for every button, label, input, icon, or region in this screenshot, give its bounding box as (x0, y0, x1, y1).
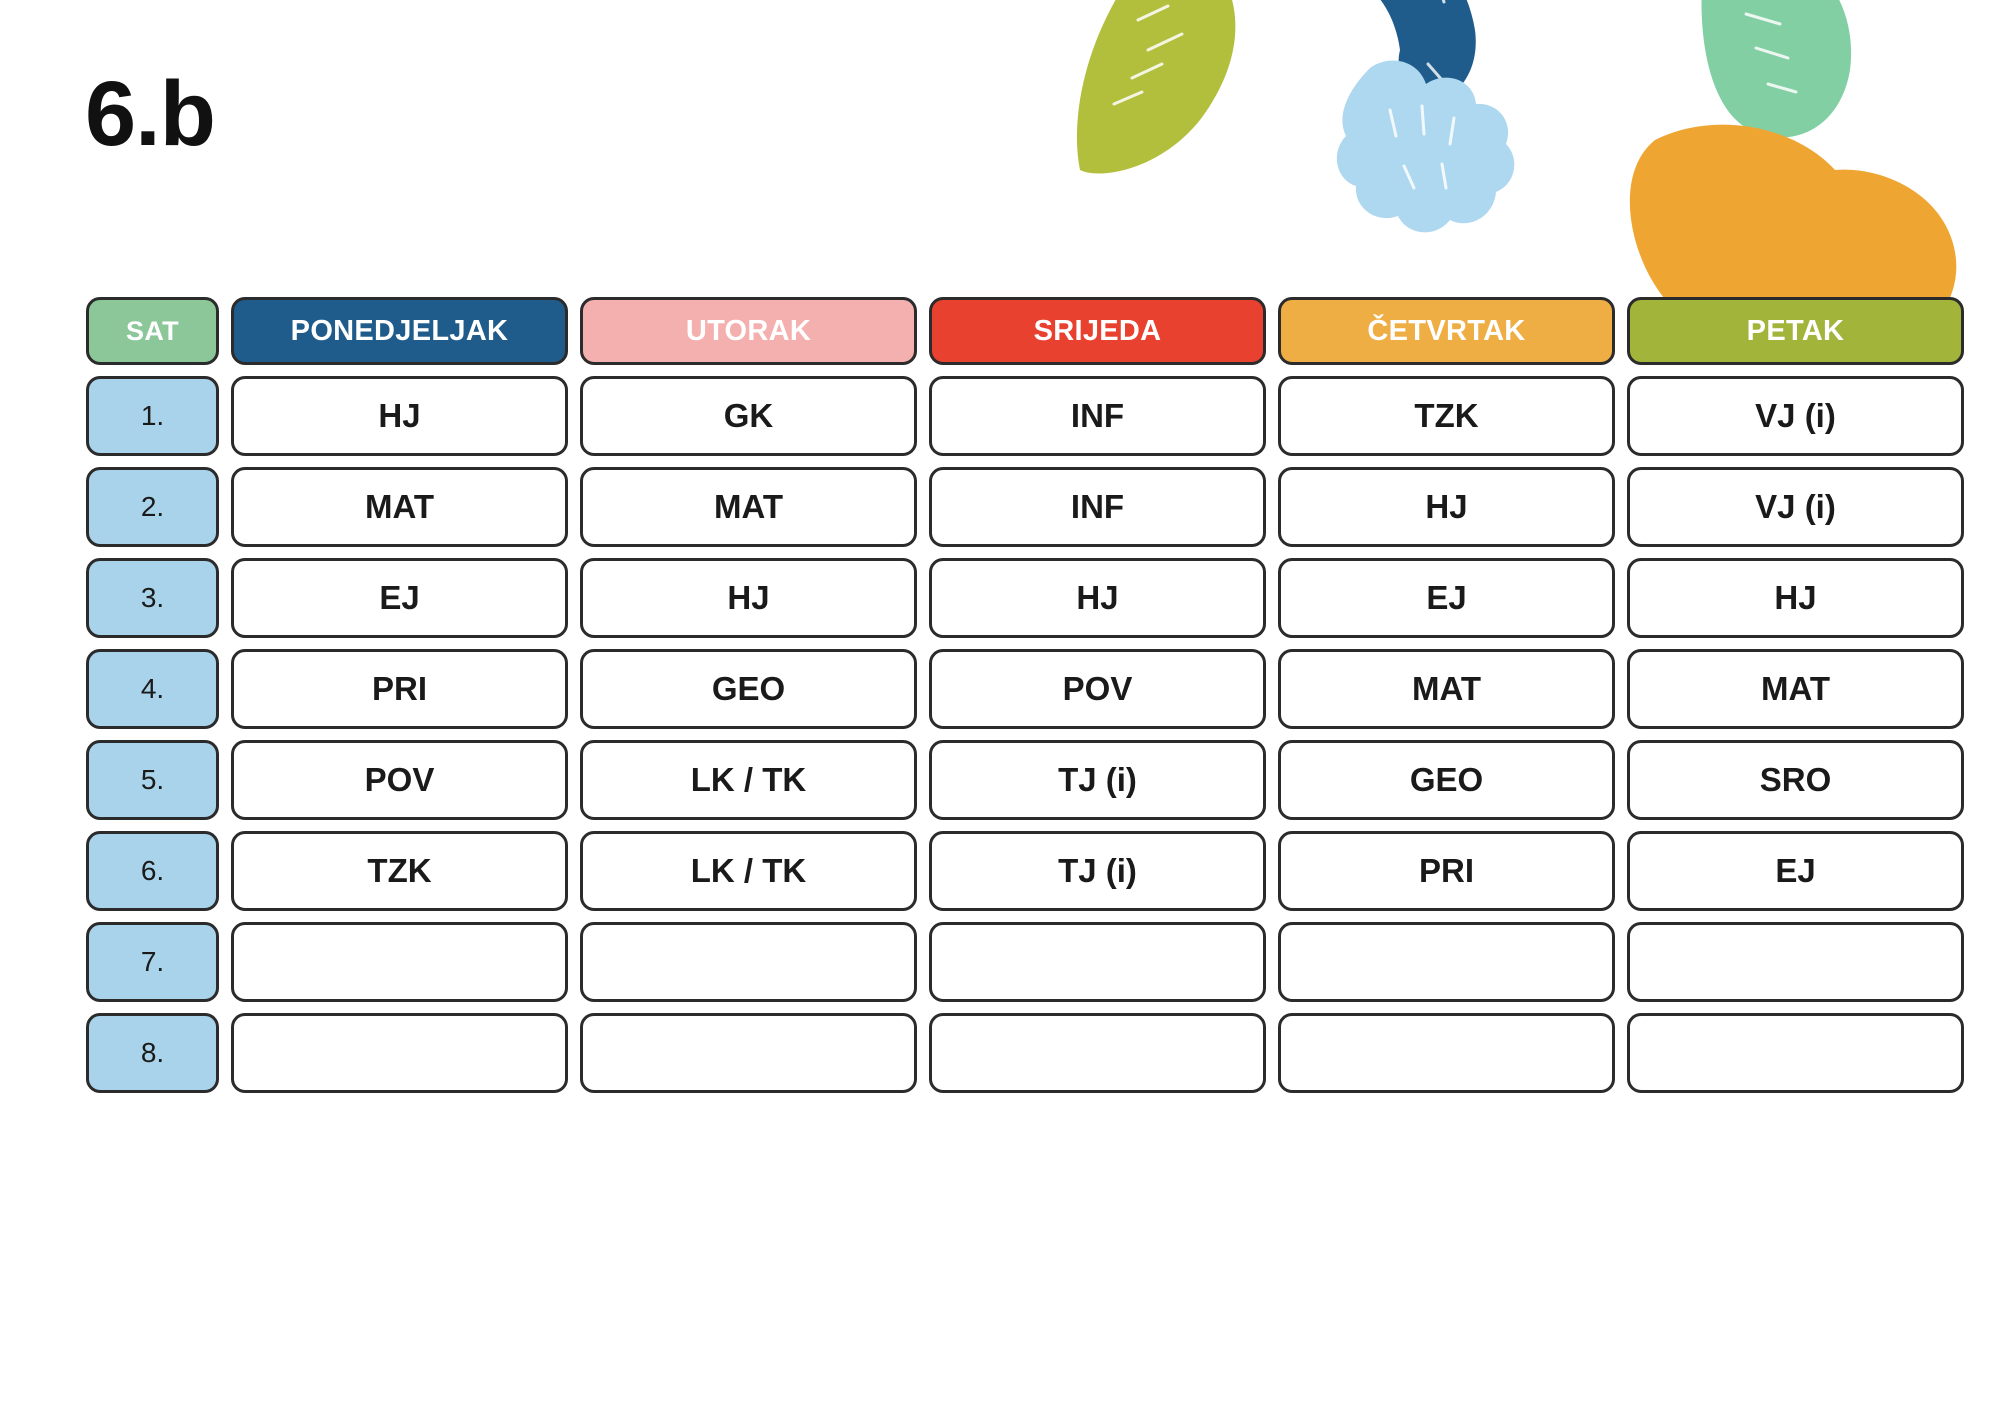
row-number: 6. (86, 831, 219, 911)
row-number: 5. (86, 740, 219, 820)
header-day-monday: PONEDJELJAK (231, 297, 568, 365)
row-number: 4. (86, 649, 219, 729)
subject-cell[interactable] (929, 922, 1266, 1002)
timetable: SAT PONEDJELJAK UTORAK SRIJEDA ČETVRTAK … (86, 297, 1964, 1093)
timetable-row: 1. HJ GK INF TZK VJ (i) (86, 376, 1964, 456)
timetable-row: 3. EJ HJ HJ EJ HJ (86, 558, 1964, 638)
subject-cell[interactable]: HJ (580, 558, 917, 638)
timetable-row: 5. POV LK / TK TJ (i) GEO SRO (86, 740, 1964, 820)
subject-cell[interactable]: HJ (1627, 558, 1964, 638)
subject-cell[interactable]: LK / TK (580, 740, 917, 820)
subject-cell[interactable]: LK / TK (580, 831, 917, 911)
subject-cell[interactable]: GEO (1278, 740, 1615, 820)
timetable-row: 6. TZK LK / TK TJ (i) PRI EJ (86, 831, 1964, 911)
subject-cell[interactable]: INF (929, 467, 1266, 547)
subject-cell[interactable]: TJ (i) (929, 740, 1266, 820)
row-number: 8. (86, 1013, 219, 1093)
subject-cell[interactable]: TZK (1278, 376, 1615, 456)
subject-cell[interactable]: TZK (231, 831, 568, 911)
header-period-label: SAT (86, 297, 219, 365)
subject-cell[interactable]: TJ (i) (929, 831, 1266, 911)
subject-cell[interactable]: MAT (1278, 649, 1615, 729)
subject-cell[interactable]: GEO (580, 649, 917, 729)
subject-cell[interactable]: INF (929, 376, 1266, 456)
subject-cell[interactable]: HJ (231, 376, 568, 456)
subject-cell[interactable]: MAT (1627, 649, 1964, 729)
subject-cell[interactable] (929, 1013, 1266, 1093)
subject-cell[interactable]: POV (231, 740, 568, 820)
subject-cell[interactable] (231, 1013, 568, 1093)
subject-cell[interactable] (1278, 922, 1615, 1002)
subject-cell[interactable] (1627, 922, 1964, 1002)
timetable-row: 4. PRI GEO POV MAT MAT (86, 649, 1964, 729)
header-day-wednesday: SRIJEDA (929, 297, 1266, 365)
subject-cell[interactable]: HJ (1278, 467, 1615, 547)
subject-cell[interactable] (580, 922, 917, 1002)
subject-cell[interactable]: EJ (231, 558, 568, 638)
subject-cell[interactable] (580, 1013, 917, 1093)
subject-cell[interactable]: EJ (1278, 558, 1615, 638)
header-day-friday: PETAK (1627, 297, 1964, 365)
timetable-row: 7. (86, 922, 1964, 1002)
subject-cell[interactable]: EJ (1627, 831, 1964, 911)
subject-cell[interactable]: PRI (231, 649, 568, 729)
subject-cell[interactable]: GK (580, 376, 917, 456)
row-number: 3. (86, 558, 219, 638)
page-title: 6.b (85, 68, 215, 160)
subject-cell[interactable]: PRI (1278, 831, 1615, 911)
row-number: 7. (86, 922, 219, 1002)
header-day-tuesday: UTORAK (580, 297, 917, 365)
subject-cell[interactable]: MAT (231, 467, 568, 547)
header-day-thursday: ČETVRTAK (1278, 297, 1615, 365)
timetable-header-row: SAT PONEDJELJAK UTORAK SRIJEDA ČETVRTAK … (86, 297, 1964, 365)
subject-cell[interactable]: VJ (i) (1627, 467, 1964, 547)
subject-cell[interactable] (231, 922, 568, 1002)
subject-cell[interactable]: HJ (929, 558, 1266, 638)
timetable-row: 2. MAT MAT INF HJ VJ (i) (86, 467, 1964, 547)
timetable-row: 8. (86, 1013, 1964, 1093)
subject-cell[interactable]: VJ (i) (1627, 376, 1964, 456)
row-number: 2. (86, 467, 219, 547)
row-number: 1. (86, 376, 219, 456)
subject-cell[interactable] (1278, 1013, 1615, 1093)
subject-cell[interactable]: SRO (1627, 740, 1964, 820)
subject-cell[interactable]: MAT (580, 467, 917, 547)
subject-cell[interactable] (1627, 1013, 1964, 1093)
subject-cell[interactable]: POV (929, 649, 1266, 729)
